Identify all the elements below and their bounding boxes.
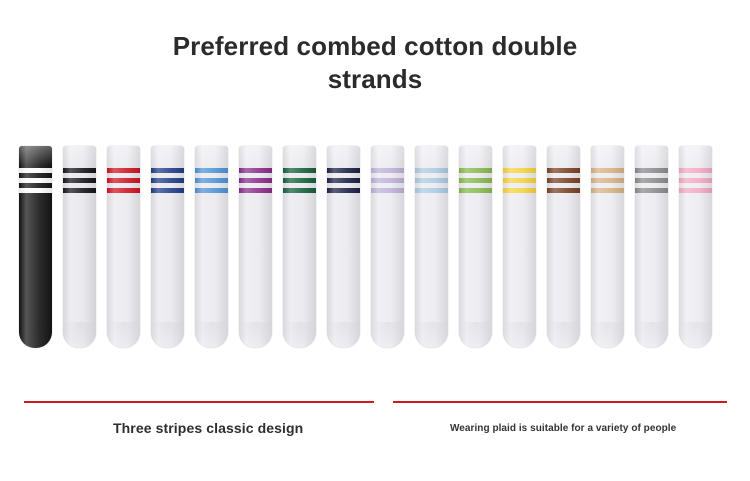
sock-cuff-highlight: [635, 146, 668, 166]
sock-toe-shading: [239, 322, 272, 348]
sock-stripe: [327, 188, 360, 193]
caption-three-stripes-classic-design: Three stripes classic design: [113, 420, 303, 436]
sock-toe-shading: [195, 322, 228, 348]
sock-cuff-highlight: [459, 146, 492, 166]
sock-toe-shading: [679, 322, 712, 348]
sock-stripe: [371, 188, 404, 193]
sock-toe-shading: [503, 322, 536, 348]
sock-fabric-shading: [239, 146, 272, 348]
sock-cuff-highlight: [415, 146, 448, 166]
sock-stripe: [371, 178, 404, 183]
sock-swatch[interactable]: [547, 146, 580, 348]
sock-stripe: [591, 178, 624, 183]
sock-toe-shading: [327, 322, 360, 348]
sock-cuff-highlight: [371, 146, 404, 166]
sock-fabric-shading: [19, 146, 52, 348]
sock-stripe: [371, 168, 404, 173]
sock-stripe: [459, 188, 492, 193]
divider-line-right: [393, 401, 727, 403]
sock-fabric-shading: [151, 146, 184, 348]
sock-stripe: [547, 178, 580, 183]
sock-stripe: [107, 178, 140, 183]
caption-wearing-plaid-suitable: Wearing plaid is suitable for a variety …: [450, 423, 676, 434]
sock-stripe: [415, 168, 448, 173]
sock-stripe: [19, 188, 52, 193]
sock-swatch[interactable]: [107, 146, 140, 348]
sock-fabric-shading: [547, 146, 580, 348]
sock-fabric-shading: [107, 146, 140, 348]
sock-swatch[interactable]: [503, 146, 536, 348]
sock-stripe: [63, 188, 96, 193]
sock-fabric-shading: [679, 146, 712, 348]
sock-stripe: [195, 178, 228, 183]
sock-swatch[interactable]: [591, 146, 624, 348]
sock-toe-shading: [459, 322, 492, 348]
sock-cuff-highlight: [151, 146, 184, 166]
sock-swatch[interactable]: [679, 146, 712, 348]
sock-swatch[interactable]: [415, 146, 448, 348]
sock-cuff-highlight: [327, 146, 360, 166]
sock-color-gallery: [0, 146, 750, 356]
sock-stripe: [415, 188, 448, 193]
sock-swatch[interactable]: [151, 146, 184, 348]
sock-stripe: [459, 168, 492, 173]
sock-fabric-shading: [327, 146, 360, 348]
sock-stripe: [503, 168, 536, 173]
sock-swatch[interactable]: [63, 146, 96, 348]
sock-swatch[interactable]: [635, 146, 668, 348]
sock-cuff-highlight: [19, 146, 52, 166]
sock-cuff-highlight: [591, 146, 624, 166]
sock-stripe: [415, 178, 448, 183]
sock-toe-shading: [415, 322, 448, 348]
sock-stripe: [591, 188, 624, 193]
sock-cuff-highlight: [239, 146, 272, 166]
sock-stripe: [107, 168, 140, 173]
sock-stripe: [679, 168, 712, 173]
sock-fabric-shading: [459, 146, 492, 348]
sock-cuff-highlight: [283, 146, 316, 166]
sock-swatch[interactable]: [239, 146, 272, 348]
sock-stripe: [679, 178, 712, 183]
sock-stripe: [195, 188, 228, 193]
sock-stripe: [591, 168, 624, 173]
sock-fabric-shading: [63, 146, 96, 348]
sock-stripe: [503, 178, 536, 183]
sock-stripe: [635, 178, 668, 183]
sock-swatch[interactable]: [19, 146, 52, 348]
sock-stripe: [151, 178, 184, 183]
sock-cuff-highlight: [503, 146, 536, 166]
sock-stripe: [635, 168, 668, 173]
sock-fabric-shading: [591, 146, 624, 348]
sock-toe-shading: [547, 322, 580, 348]
sock-cuff-highlight: [63, 146, 96, 166]
page-title: Preferred combed cotton double strands: [0, 30, 750, 97]
sock-cuff-highlight: [107, 146, 140, 166]
sock-stripe: [503, 188, 536, 193]
sock-stripe: [283, 188, 316, 193]
sock-stripe: [327, 178, 360, 183]
sock-toe-shading: [283, 322, 316, 348]
sock-swatch[interactable]: [327, 146, 360, 348]
sock-toe-shading: [591, 322, 624, 348]
sock-stripe: [63, 178, 96, 183]
sock-cuff-highlight: [195, 146, 228, 166]
sock-toe-shading: [371, 322, 404, 348]
sock-fabric-shading: [415, 146, 448, 348]
sock-stripe: [151, 168, 184, 173]
sock-stripe: [547, 188, 580, 193]
sock-stripe: [283, 178, 316, 183]
sock-toe-shading: [635, 322, 668, 348]
sock-stripe: [283, 168, 316, 173]
sock-stripe: [19, 168, 52, 173]
divider-line-left: [24, 401, 374, 403]
sock-toe-shading: [151, 322, 184, 348]
sock-swatch[interactable]: [195, 146, 228, 348]
sock-stripe: [635, 188, 668, 193]
sock-stripe: [195, 168, 228, 173]
sock-stripe: [63, 168, 96, 173]
sock-stripe: [547, 168, 580, 173]
sock-fabric-shading: [371, 146, 404, 348]
sock-swatch[interactable]: [459, 146, 492, 348]
sock-swatch[interactable]: [283, 146, 316, 348]
sock-cuff-highlight: [547, 146, 580, 166]
sock-stripe: [19, 178, 52, 183]
sock-fabric-shading: [503, 146, 536, 348]
sock-stripe: [327, 168, 360, 173]
sock-stripe: [239, 168, 272, 173]
sock-stripe: [239, 188, 272, 193]
sock-cuff-highlight: [679, 146, 712, 166]
sock-stripe: [151, 188, 184, 193]
sock-fabric-shading: [283, 146, 316, 348]
sock-toe-shading: [107, 322, 140, 348]
sock-toe-shading: [63, 322, 96, 348]
sock-fabric-shading: [195, 146, 228, 348]
sock-swatch[interactable]: [371, 146, 404, 348]
sock-stripe: [679, 188, 712, 193]
sock-stripe: [107, 188, 140, 193]
sock-stripe: [239, 178, 272, 183]
sock-fabric-shading: [635, 146, 668, 348]
sock-stripe: [459, 178, 492, 183]
sock-toe-shading: [19, 322, 52, 348]
